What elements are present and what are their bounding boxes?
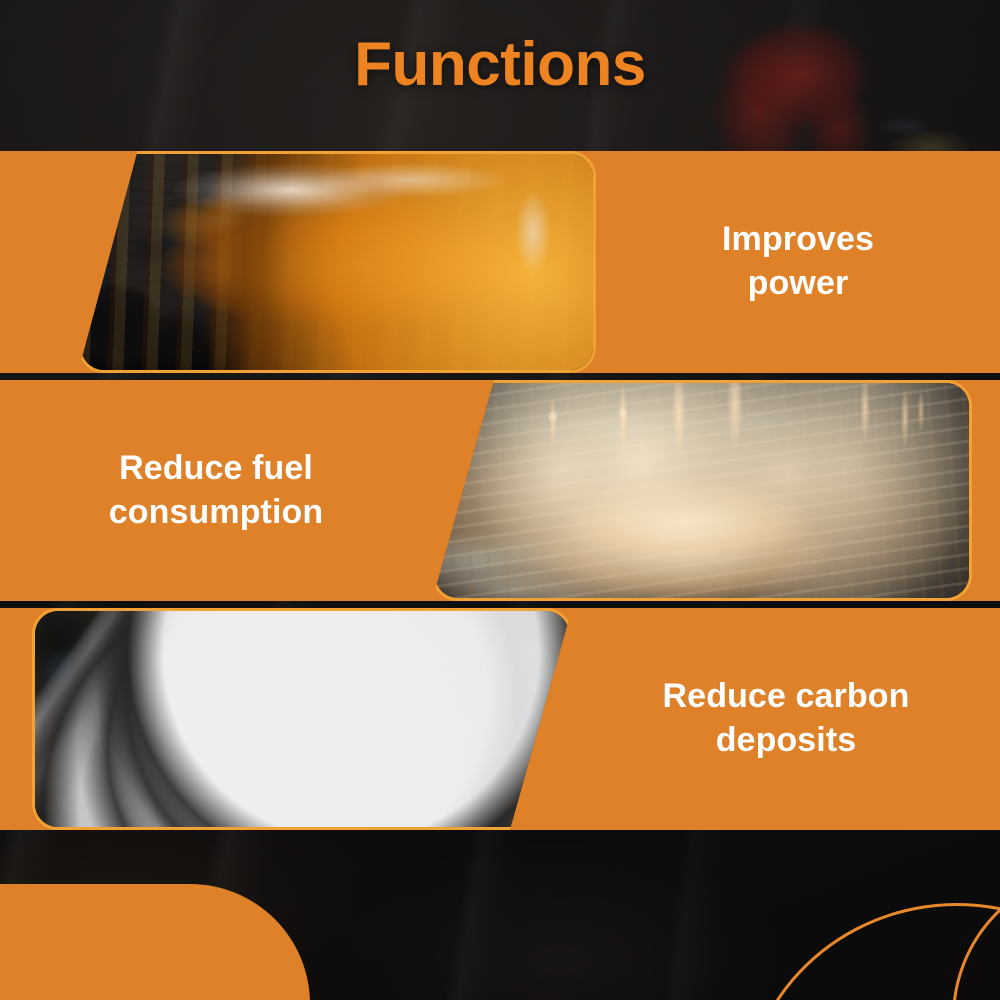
golden-oil-splash-crown-image (435, 383, 969, 598)
feature-caption-1: Improves power (596, 151, 1000, 373)
page-title: Functions (0, 29, 1000, 100)
image-frame-1 (78, 151, 596, 373)
feature-image-panel-1 (78, 151, 596, 373)
feature-caption-3: Reduce carbon deposits (572, 608, 1000, 830)
caption-line: deposits (663, 719, 910, 763)
feature-row-3: Reduce carbon deposits (0, 608, 1000, 830)
caption-line: Reduce carbon (663, 675, 910, 719)
feature-caption-2: Reduce fuel consumption (0, 380, 432, 601)
engine-cylinder-head-valves-image (35, 611, 569, 827)
feature-image-panel-3 (32, 608, 572, 830)
caption-line: Reduce fuel (109, 447, 324, 491)
feature-image-panel-2 (432, 380, 972, 601)
feature-row-1: Improves power (0, 151, 1000, 373)
caption-line: Improves (722, 218, 874, 262)
image-frame-2 (432, 380, 972, 601)
image-frame-3 (32, 608, 572, 830)
caption-line: consumption (109, 491, 324, 535)
caption-line: power (722, 262, 874, 306)
transparent-amber-engine-cutaway-image (81, 154, 593, 370)
feature-row-2: Reduce fuel consumption (0, 380, 1000, 601)
